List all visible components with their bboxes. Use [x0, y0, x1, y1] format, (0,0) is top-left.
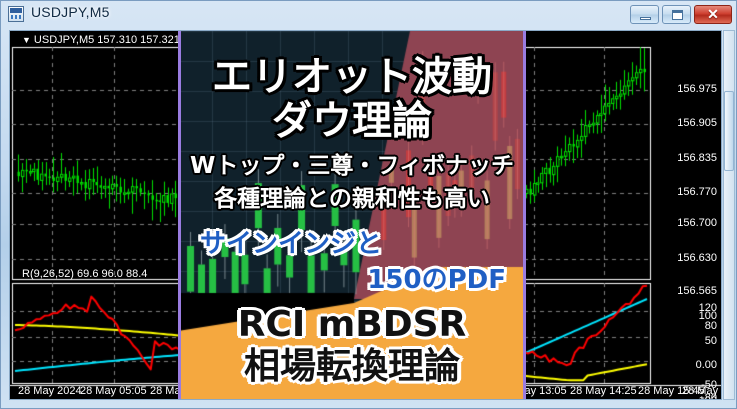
price-axis-label: 156.905: [677, 117, 717, 129]
chart-symbol-header: ▼USDJPY,M5 157.310 157.321 157.: [22, 34, 204, 46]
time-axis-label: 28 May 2024: [18, 385, 82, 397]
promo-subline-2: 各種理論との親和性も高い: [178, 188, 526, 211]
promo-subline-1: Wトップ・三尊・フィボナッチ: [178, 155, 526, 178]
chevron-down-icon: ▼: [22, 35, 31, 45]
time-axis-label: 28 May 14:25: [570, 385, 637, 397]
oscillator-axis-label: 80: [705, 320, 717, 332]
scrollbar-thumb[interactable]: [724, 91, 734, 171]
maximize-icon: [672, 10, 683, 20]
minimize-button[interactable]: [630, 5, 659, 24]
chart-client-area[interactable]: ▼USDJPY,M5 157.310 157.321 157. R(9,26,5…: [9, 30, 722, 400]
promo-headline-2: ダウ理論: [178, 101, 526, 141]
promo-blue-1: サインインジと: [178, 231, 526, 257]
promo-overlay: エリオット波動 ダウ理論 Wトップ・三尊・フィボナッチ 各種理論との親和性も高い…: [178, 31, 526, 400]
chart-window: USDJPY,M5 ✕ ▼USDJPY,M5 157.310 157.321 1…: [0, 0, 737, 409]
price-axis-label: 156.835: [677, 152, 717, 164]
time-axis-label: 28 May 05:05: [80, 385, 147, 397]
vertical-scrollbar[interactable]: [723, 30, 735, 400]
price-axis-label: 156.630: [677, 252, 717, 264]
promo-headline-1: エリオット波動: [178, 57, 526, 97]
promo-blue-2: 150のPDF: [178, 267, 526, 293]
chart-window-icon: [8, 6, 24, 22]
maximize-button[interactable]: [662, 5, 691, 24]
oscillator-axis-label: 0.00: [696, 359, 717, 371]
promo-footer-2: 相場転換理論: [178, 349, 526, 385]
price-axis-label: 156.975: [677, 83, 717, 95]
title-bar[interactable]: USDJPY,M5 ✕: [1, 1, 736, 28]
price-axis-label: 156.700: [677, 217, 717, 229]
minimize-icon: [640, 17, 651, 20]
indicator-header: R(9,26,52) 69.6 96.0 88.4: [22, 268, 147, 280]
oscillator-axis-label: 50: [705, 335, 717, 347]
close-button[interactable]: ✕: [694, 5, 732, 24]
close-icon: ✕: [695, 6, 731, 23]
price-axis-label: 156.565: [677, 285, 717, 297]
price-axis-label: 156.770: [677, 186, 717, 198]
window-title: USDJPY,M5: [31, 4, 110, 20]
time-axis-label: 28 May 17:05: [682, 385, 722, 397]
promo-footer-1: RCI mBDSR: [178, 307, 526, 343]
